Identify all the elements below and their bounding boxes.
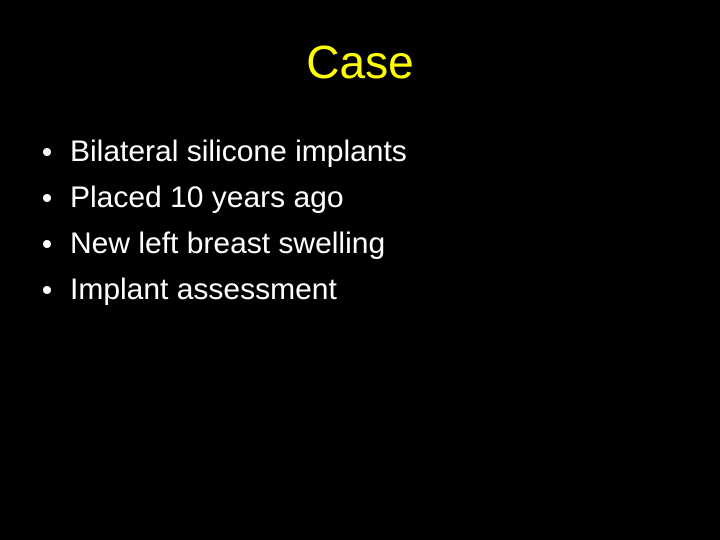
- list-item-label: Placed 10 years ago: [70, 175, 344, 221]
- bullet-dot-icon: [43, 240, 51, 248]
- bullet-dot-icon: [43, 148, 51, 156]
- list-item-label: Bilateral silicone implants: [70, 129, 407, 175]
- bullet-dot-icon: [43, 194, 51, 202]
- bullet-dot-icon: [43, 286, 51, 294]
- list-item: Placed 10 years ago: [38, 175, 688, 221]
- bullet-list: Bilateral silicone implants Placed 10 ye…: [38, 129, 688, 313]
- list-item-label: New left breast swelling: [70, 221, 385, 267]
- list-item: Bilateral silicone implants: [38, 129, 688, 175]
- slide-canvas: Case Bilateral silicone implants Placed …: [0, 0, 720, 540]
- page-title: Case: [0, 36, 720, 88]
- list-item: New left breast swelling: [38, 221, 688, 267]
- list-item-label: Implant assessment: [70, 267, 337, 313]
- list-item: Implant assessment: [38, 267, 688, 313]
